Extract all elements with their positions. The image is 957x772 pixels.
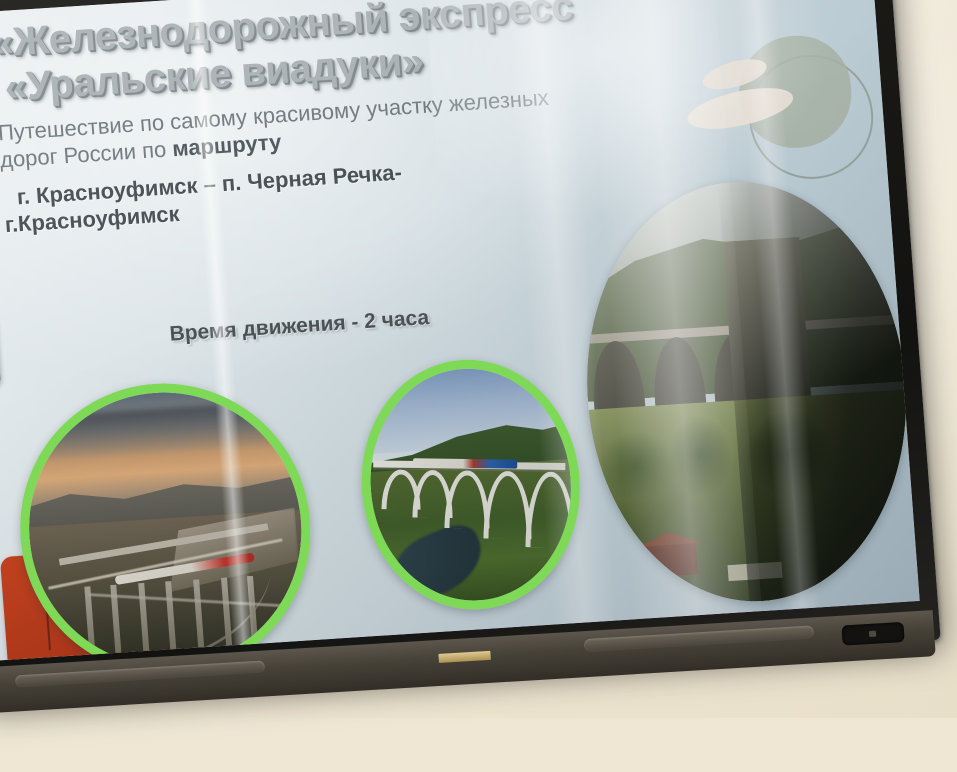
speaker-grille-left <box>15 660 265 687</box>
slide-photo-aerial-viaduct <box>10 374 321 660</box>
slide-photo-tall-viaduct <box>572 172 920 611</box>
slide-photo-arch-viaduct <box>353 353 589 616</box>
speaker-grille-right <box>584 625 815 652</box>
display-screen[interactable]: «Железнодорожный экспресс «Уральские виа… <box>0 0 920 661</box>
io-port[interactable] <box>841 622 904 646</box>
brand-nameplate <box>438 651 491 663</box>
photo-2-image <box>362 363 579 607</box>
slide-text-block: «Железнодорожный экспресс «Уральские виа… <box>0 0 645 239</box>
decorative-leaf-shape <box>713 25 874 184</box>
photo-3-haze-overlay <box>572 172 920 611</box>
subtitle-bold-word: маршруту <box>171 129 282 161</box>
photo-1-image <box>19 384 311 661</box>
photo-3-image <box>572 172 920 611</box>
photo-2-arches <box>377 469 570 574</box>
display-monitor: «Железнодорожный экспресс «Уральские виа… <box>0 0 957 772</box>
